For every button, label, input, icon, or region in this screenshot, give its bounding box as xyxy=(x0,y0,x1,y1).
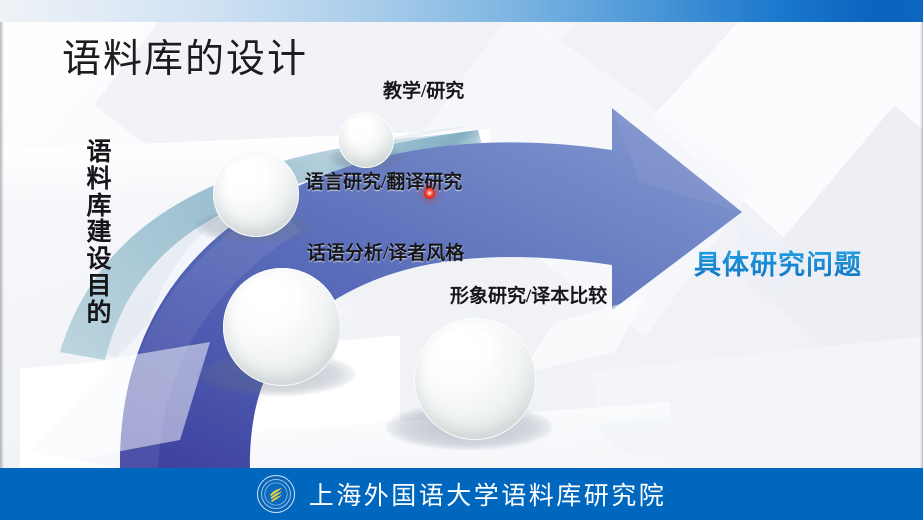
node-label-2: 语言研究/翻译研究 xyxy=(305,167,462,194)
footer-organization-name: 上海外国语大学语料库研究院 xyxy=(309,476,667,512)
vertical-axis-label: 语料库建设目的 xyxy=(82,140,116,327)
node-bubble-3-body xyxy=(223,268,341,386)
seal-logo-ring xyxy=(261,479,291,509)
node-bubble-1-body xyxy=(338,112,394,168)
page-title: 语料库的设计 xyxy=(62,28,308,84)
node-label-3: 话语分析/译者风格 xyxy=(307,238,464,265)
node-bubble-4-body xyxy=(414,318,536,440)
footer-banner: 上海外国语大学语料库研究院 xyxy=(0,468,923,520)
seal-logo-icon xyxy=(257,475,295,513)
node-label-1: 教学/研究 xyxy=(383,76,464,103)
left-edge-shading xyxy=(0,22,4,488)
presentation-slide: 语料库的设计 语料库建设目的 教学/研究 语言研究/翻译研究 话语分析/译者风格… xyxy=(0,0,923,520)
node-label-4: 形象研究/译本比较 xyxy=(450,281,607,308)
red-click-dot-icon xyxy=(424,188,435,199)
top-accent-bar xyxy=(0,0,923,22)
vertical-axis-label-text: 语料库建设目的 xyxy=(82,140,116,327)
node-bubble-2-body xyxy=(213,151,299,237)
callout-text: 具体研究问题 xyxy=(694,243,862,282)
